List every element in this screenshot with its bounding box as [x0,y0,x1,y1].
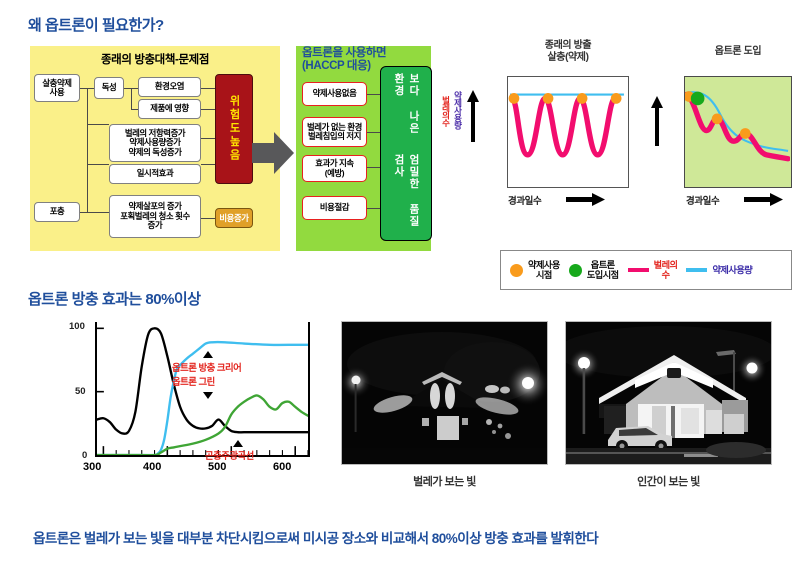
legend-label-l2: 시점 [528,270,560,281]
node-label: 벌레의 저항력증가 약제사용량증가 약제의 독성증가 [125,129,185,158]
chart-legend: 약제사용 시점 옵트론 도입시점 벌레의 수 약제사용량 [500,250,792,290]
annot-marker-clear-icon [203,351,213,358]
optron-heading-line1: 옵트론을 사용하면 [302,47,437,60]
legend-item-1: 옵트론 도입시점 [560,260,619,281]
node-label-better-env: 보다 나은 환경 [391,73,421,154]
chart-a-xlabel: 경과일수 [508,193,541,207]
connector [87,124,109,125]
up-arrow-icon [466,90,480,142]
chart-a-title-l1: 종래의 방출 [497,40,639,52]
ylabel-insect-count: 벌레의수 [441,96,450,126]
xtick-400: 400 [143,461,161,473]
node-label: 약제살포의 증가 포획벌레의 청소 횟수 증가 [120,202,190,231]
chart-b-plot [685,77,790,186]
node-label-strict-quality: 엄밀한 품질검사 [391,154,421,234]
chart-a-title-l2: 살충(약제) [497,52,639,64]
annot-optron-green: 옵트론 그린 [172,376,215,389]
transition-arrow-icon [252,130,294,176]
connector [201,109,215,110]
connector [367,167,380,168]
legend-label-l1: 약제사용 [528,260,560,271]
ytick-50: 50 [75,386,86,397]
legend-label-l2: 수 [654,270,678,281]
legend-label: 벌레의 수 [654,260,678,281]
node-spray-increase: 약제살포의 증가 포획벌레의 청소 횟수 증가 [109,195,201,238]
connector [87,164,109,165]
node-label: 독성 [102,83,117,93]
annot-marker-insect-icon [233,440,243,447]
node-no-pesticide: 약제사용없음 [302,82,367,106]
chart-optron-introduction [684,76,792,188]
chart-b-xlabel: 경과일수 [686,193,719,207]
chart-b-title: 옵트론 도입 [676,46,800,58]
chart-a-plot [508,77,627,186]
connector [367,132,380,133]
node-cost-increase: 비용증가 [215,208,253,228]
node-label: 벌레가 없는 환경 벌레침입의 저지 [307,123,362,142]
page-title: 왜 옵트론이 필요한가? [28,14,164,35]
annot-marker-green-icon [203,392,213,399]
spectral-transmittance-chart [95,322,310,457]
legend-label: 약제사용 시점 [528,260,560,281]
node-label: 포충 [50,207,65,217]
node-risk-high: 위험도높음 [215,74,253,184]
legend-label-l1: 벌레의 [654,260,678,271]
node-trapping: 포충 [34,202,80,222]
photo-caption-human: 인간이 보는 빛 [565,473,772,489]
legend-label-l2: 도입시점 [587,270,619,281]
node-pesticide-use: 살충약제 사용 [34,74,80,102]
connector [201,218,215,219]
legend-item-2: 벌레의 수 [619,260,678,281]
node-product-impact: 제품에 영향 [138,99,201,119]
legend-line-icon [686,268,707,272]
up-arrow-icon-2 [650,96,664,146]
photo-caption-insect: 벌레가 보는 빛 [341,473,548,489]
node-cost-saving: 비용절감 [302,196,367,220]
legacy-panel-heading: 종래의 방충대책-문제점 [30,51,280,67]
node-label: 약제사용없음 [313,89,357,99]
legend-item-3: 약제사용량 [677,265,752,276]
node-label: 효과가 지속 (예방) [315,159,353,178]
node-env-pollution: 환경오염 [138,77,201,97]
footer-summary: 옵트론은 벌레가 보는 빛을 대부분 차단시킴으로써 미시공 장소와 비교해서 … [33,527,598,547]
connector [201,138,215,139]
spectral-chart-plot [97,322,308,455]
ytick-100: 100 [69,321,85,332]
xtick-300: 300 [83,461,101,473]
series-옵트론 그린 [97,395,308,455]
connector [201,164,215,165]
node-label: 살충약제 사용 [42,79,71,98]
legend-dot-icon [510,264,523,277]
legend-label: 약제사용량 [712,265,752,276]
legend-dot-icon [569,264,582,277]
connector [367,208,380,209]
photo-human-view [565,321,772,465]
ytick-0: 0 [82,450,87,461]
node-label: 환경오염 [155,82,184,92]
photo-human-view-image [566,322,771,464]
legend-label-l1: 옵트론 [587,260,619,271]
node-temporary-effect: 일시적효과 [109,164,201,184]
annot-optron-clear: 옵트론 방충 크리어 [172,362,241,375]
xtick-600: 600 [273,461,291,473]
xtick-500: 500 [208,461,226,473]
chart-b-x-arrow-icon [744,193,784,206]
chart-b-title-l1: 옵트론 도입 [676,46,800,58]
legend-label-l1: 약제사용량 [712,265,752,276]
connector [367,94,380,95]
photo-insect-view-image [342,322,547,464]
ylabel-pesticide-dosage: 약제사용량 [453,91,462,129]
connector [80,212,94,213]
chart-a-title: 종래의 방출 살충(약제) [497,40,639,64]
node-better-environment: 보다 나은 환경 엄밀한 품질검사 [380,66,432,241]
node-resistance: 벌레의 저항력증가 약제사용량증가 약제의 독성증가 [109,124,201,162]
top-comparison-panel: 종래의 방충대책-문제점 살충약제 사용 독성 환경오염 제품에 영향 벌레의 … [0,38,802,268]
connector [131,109,138,110]
node-toxicity: 독성 [94,77,124,99]
node-label: 일시적효과 [137,169,174,179]
legend-label: 옵트론 도입시점 [587,260,619,281]
node-lasting-effect: 효과가 지속 (예방) [302,155,367,182]
legend-line-icon [628,268,649,272]
chart-a-x-arrow-icon [566,193,606,206]
node-label: 비용절감 [320,203,349,213]
legend-item-0: 약제사용 시점 [501,260,560,281]
section-title-effect: 옵트론 방충 효과는 80%이상 [28,288,201,309]
node-label: 제품에 영향 [150,104,188,114]
photo-insect-view [341,321,548,465]
connector [131,88,132,110]
chart-conventional-release [507,76,629,188]
connector [87,88,88,212]
node-insect-free: 벌레가 없는 환경 벌레침입의 저지 [302,117,367,147]
connector [201,88,215,89]
